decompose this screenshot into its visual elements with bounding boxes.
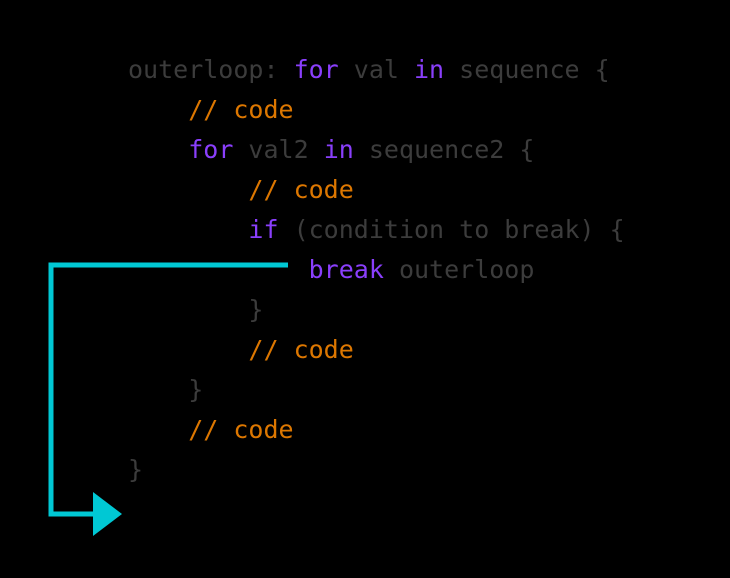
code-token-comment: // code <box>188 415 293 444</box>
code-indent <box>128 255 309 284</box>
code-token-plain: val <box>339 55 414 84</box>
code-indent <box>128 215 248 244</box>
code-token-plain: (condition to break) { <box>279 215 625 244</box>
code-line: } <box>128 450 625 490</box>
code-indent <box>128 335 248 364</box>
code-indent <box>128 295 248 324</box>
code-token-keyword: for <box>188 135 233 164</box>
code-token-keyword: for <box>294 55 339 84</box>
code-token-plain: } <box>248 295 263 324</box>
code-token-comment: // code <box>248 175 353 204</box>
code-indent <box>128 95 188 124</box>
code-line: break outerloop <box>128 250 625 290</box>
code-line: outerloop: for val in sequence { <box>128 50 625 90</box>
diagram-canvas: outerloop: for val in sequence { // code… <box>0 0 730 578</box>
code-token-keyword: if <box>248 215 278 244</box>
code-line: // code <box>128 410 625 450</box>
code-line: // code <box>128 90 625 130</box>
code-block: outerloop: for val in sequence { // code… <box>128 50 625 490</box>
code-line: for val2 in sequence2 { <box>128 130 625 170</box>
code-token-plain: outerloop: <box>128 55 294 84</box>
code-token-comment: // code <box>248 335 353 364</box>
code-token-keyword: in <box>324 135 354 164</box>
code-token-plain: } <box>188 375 203 404</box>
code-line: } <box>128 370 625 410</box>
code-token-plain: sequence { <box>444 55 610 84</box>
code-line: // code <box>128 330 625 370</box>
code-line: if (condition to break) { <box>128 210 625 250</box>
code-token-plain: sequence2 { <box>354 135 535 164</box>
code-indent <box>128 175 248 204</box>
code-token-keyword: in <box>414 55 444 84</box>
code-line: // code <box>128 170 625 210</box>
code-indent <box>128 415 188 444</box>
code-token-comment: // code <box>188 95 293 124</box>
code-indent <box>128 135 188 164</box>
code-token-plain: outerloop <box>384 255 535 284</box>
code-line: } <box>128 290 625 330</box>
code-token-plain: } <box>128 455 143 484</box>
code-indent <box>128 375 188 404</box>
break-flow-arrowhead-icon <box>93 492 122 536</box>
code-token-plain: val2 <box>233 135 323 164</box>
code-token-keyword: break <box>309 255 384 284</box>
